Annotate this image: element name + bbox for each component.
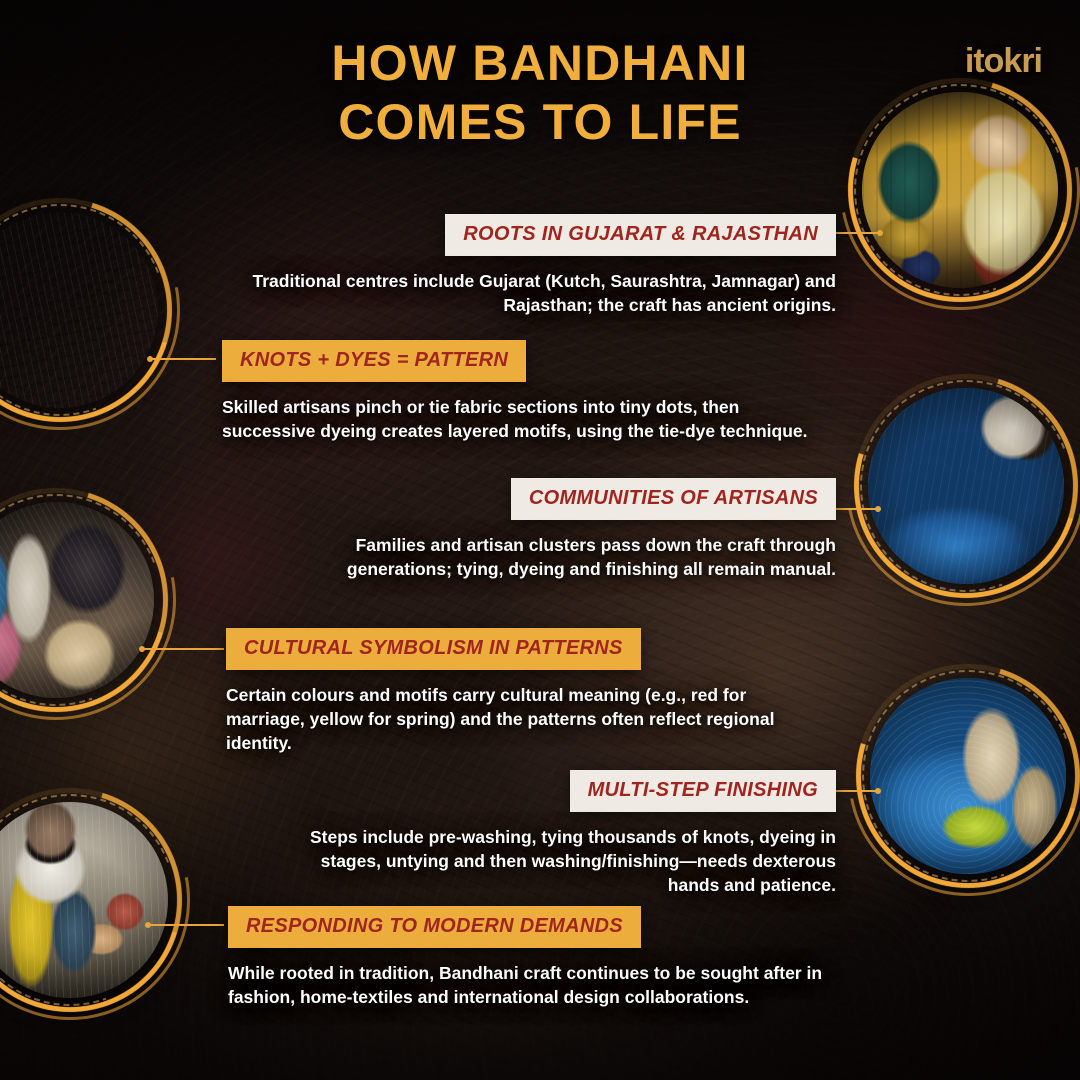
connector-line-finishing <box>836 790 878 792</box>
infographic-canvas: HOW BANDHANI COMES TO LIFE itokri <box>0 0 1080 1080</box>
section-heading-knots-dyes[interactable]: KNOTS + DYES = PATTERN <box>222 340 526 382</box>
photo-hands-red <box>0 212 158 408</box>
section-body-communities: Families and artisan clusters pass down … <box>246 534 836 582</box>
photo-women-tying <box>862 92 1058 288</box>
section-body-modern-demands: While rooted in tradition, Bandhani craf… <box>228 962 828 1010</box>
brand-logo[interactable]: itokri <box>965 42 1042 81</box>
photo-blue-vat <box>870 678 1066 874</box>
section-modern-demands: RESPONDING TO MODERN DEMANDS While roote… <box>228 906 828 1010</box>
section-body-roots: Traditional centres include Gujarat (Kut… <box>250 270 836 318</box>
section-heading-roots[interactable]: ROOTS IN GUJARAT & RAJASTHAN <box>445 214 836 256</box>
section-symbolism: CULTURAL SYMBOLISM IN PATTERNS Certain c… <box>226 628 826 756</box>
section-heading-modern-demands[interactable]: RESPONDING TO MODERN DEMANDS <box>228 906 641 948</box>
connector-line-symbolism <box>142 648 224 650</box>
section-heading-communities[interactable]: COMMUNITIES OF ARTISANS <box>511 478 836 520</box>
section-body-knots-dyes: Skilled artisans pinch or tie fabric sec… <box>222 396 822 444</box>
photo-village-tying <box>0 502 154 698</box>
section-knots-dyes: KNOTS + DYES = PATTERN Skilled artisans … <box>222 340 822 444</box>
section-communities: COMMUNITIES OF ARTISANS Families and art… <box>246 478 836 582</box>
section-body-symbolism: Certain colours and motifs carry cultura… <box>226 684 826 756</box>
section-body-finishing: Steps include pre-washing, tying thousan… <box>300 826 836 898</box>
section-roots: ROOTS IN GUJARAT & RAJASTHAN Traditional… <box>250 214 836 318</box>
photo-dye-tub <box>868 388 1064 584</box>
connector-line-roots <box>836 232 880 234</box>
connector-line-communities <box>836 508 878 510</box>
connector-line-knots <box>150 358 216 360</box>
section-heading-symbolism[interactable]: CULTURAL SYMBOLISM IN PATTERNS <box>226 628 641 670</box>
photo-yellow-hanks <box>0 802 168 998</box>
section-finishing: MULTI-STEP FINISHING Steps include pre-w… <box>300 770 836 898</box>
section-heading-finishing[interactable]: MULTI-STEP FINISHING <box>570 770 836 812</box>
connector-line-modern <box>148 924 224 926</box>
